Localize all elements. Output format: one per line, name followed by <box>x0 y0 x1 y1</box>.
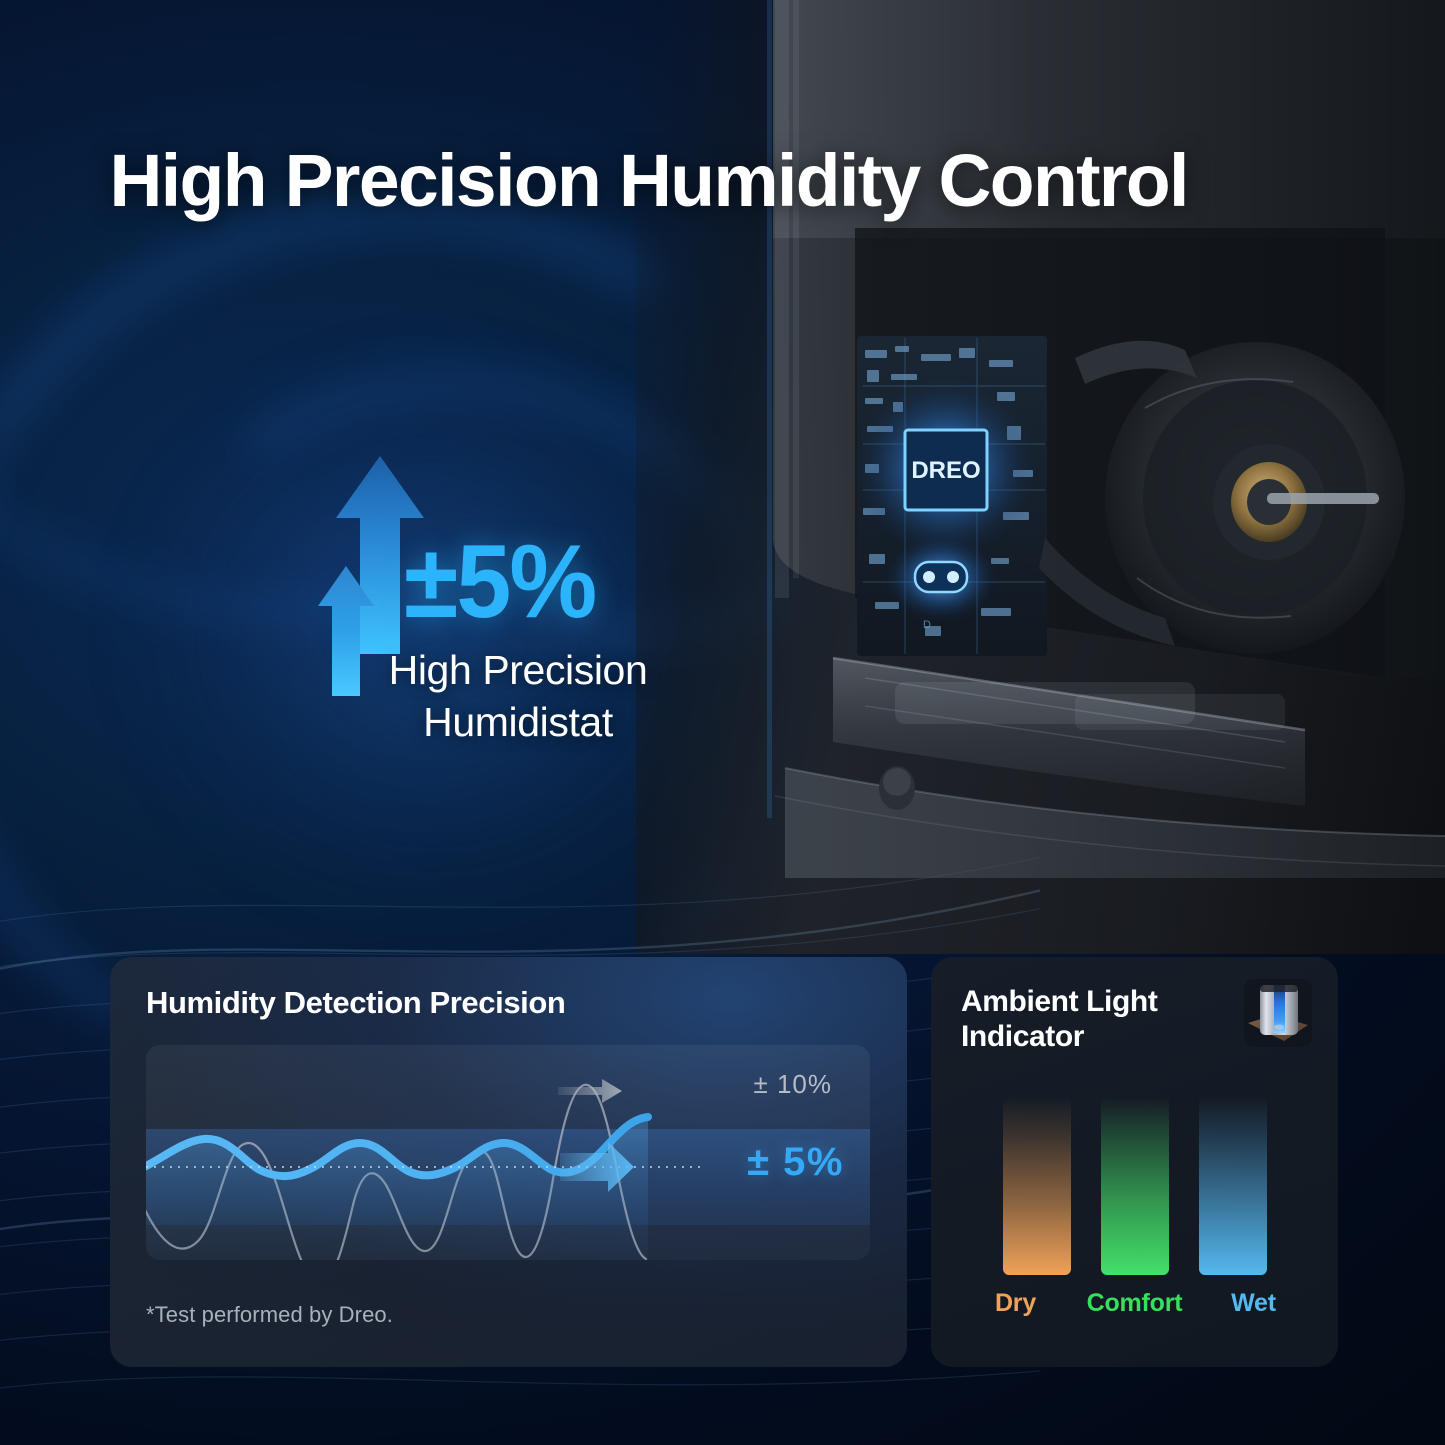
stat-caption-line2: Humidistat <box>318 696 718 748</box>
ambient-bars <box>931 1097 1338 1277</box>
bar-comfort <box>1101 1097 1169 1275</box>
ambient-bar-labels: Dry Comfort Wet <box>931 1289 1338 1318</box>
precision-footnote: *Test performed by Dreo. <box>146 1302 393 1328</box>
stat-caption: High Precision Humidistat <box>318 644 718 749</box>
bar-label-dry: Dry <box>982 1289 1050 1318</box>
precision-card-title: Humidity Detection Precision <box>146 985 565 1021</box>
ambient-card-title: Ambient Light Indicator <box>961 985 1201 1055</box>
label-baseline-10: ± 10% <box>753 1069 832 1100</box>
humidifier-cutaway-illustration: DREO D <box>745 0 1445 878</box>
humidity-precision-card: Humidity Detection Precision <box>110 957 907 1367</box>
marketing-page: DREO D <box>0 0 1445 1445</box>
humidifier-product-thumbnail <box>1244 979 1312 1047</box>
page-title: High Precision Humidity Control <box>109 142 1187 220</box>
label-highlight-5: ± 5% <box>747 1140 844 1185</box>
feature-cards-row: Humidity Detection Precision <box>110 957 1338 1367</box>
ambient-light-card: Ambient Light Indicator <box>931 957 1338 1367</box>
svg-text:D: D <box>923 619 931 631</box>
bar-dry <box>1003 1097 1071 1275</box>
stat-value: ±5% <box>404 530 595 634</box>
bar-label-comfort: Comfort <box>1080 1289 1190 1318</box>
precision-graph: ± 10% ± 5% <box>146 1045 870 1260</box>
stat-caption-line1: High Precision <box>318 644 718 696</box>
bar-wet <box>1199 1097 1267 1275</box>
bar-label-wet: Wet <box>1220 1289 1288 1318</box>
hero-stat-block: ±5% High Precision Humidistat <box>318 448 718 748</box>
chip-label: DREO <box>911 457 980 484</box>
ambient-title-line2: Indicator <box>961 1020 1201 1055</box>
ambient-title-line1: Ambient Light <box>961 985 1201 1020</box>
arrow-right-gray-icon <box>558 1079 622 1103</box>
